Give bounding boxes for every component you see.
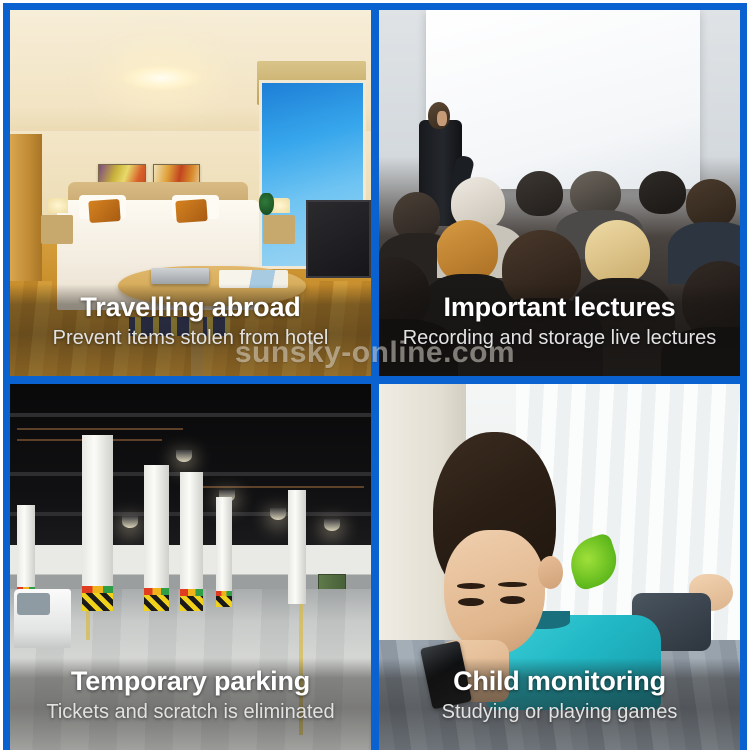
column-base-guard <box>216 596 232 607</box>
television <box>306 200 371 277</box>
product-usage-scenarios-collage: Travelling abroad Prevent items stolen f… <box>0 0 750 750</box>
laptop <box>151 268 209 284</box>
child-ear <box>538 556 563 589</box>
scenario-cell-important-lectures[interactable]: Important lectures Recording and storage… <box>379 10 740 376</box>
flower-vase <box>259 193 273 215</box>
hanging-light-icon <box>122 516 138 528</box>
ceiling-pipe <box>198 486 364 488</box>
audience-head <box>639 171 686 214</box>
van-window <box>17 593 49 615</box>
audience-head <box>502 230 581 308</box>
nightstand-left <box>41 215 73 244</box>
column-base-guard <box>180 596 203 611</box>
bedside-lamp-left <box>48 198 68 213</box>
presenter-face <box>437 111 446 126</box>
bed-cushion-left <box>89 199 121 223</box>
hanging-light-icon <box>176 450 192 462</box>
hotel-door <box>10 134 42 299</box>
garage-column <box>144 465 169 611</box>
column-hazard-stripe <box>144 588 169 595</box>
table-leg <box>191 299 204 376</box>
ceiling-pipe <box>17 428 183 430</box>
audience-group <box>379 171 740 376</box>
garage-column <box>288 490 306 603</box>
column-base-guard <box>144 595 169 611</box>
child-face <box>444 530 545 654</box>
floor-rug <box>129 317 230 335</box>
ceiling-beam <box>10 413 371 417</box>
audience-head <box>686 179 737 228</box>
nightstand-right <box>263 215 295 244</box>
audience-head <box>585 220 650 284</box>
ceiling-light-icon <box>122 65 201 91</box>
column-base-guard <box>82 593 113 611</box>
scenario-cell-temporary-parking[interactable]: Temporary parking Tickets and scratch is… <box>10 384 371 750</box>
child-eye <box>458 598 483 606</box>
bed-cushion-right <box>175 199 207 223</box>
scenario-cell-child-monitoring[interactable]: Child monitoring Studying or playing gam… <box>379 384 740 750</box>
column-hazard-stripe <box>82 586 113 593</box>
garage-column <box>180 472 203 611</box>
column-hazard-stripe <box>180 589 203 596</box>
audience-head <box>516 171 563 216</box>
audience-shoulders <box>480 298 603 376</box>
scenario-cell-travelling-abroad[interactable]: Travelling abroad Prevent items stolen f… <box>10 10 371 376</box>
scenario-grid: Travelling abroad Prevent items stolen f… <box>3 3 747 750</box>
floor-lane-line <box>299 596 303 735</box>
garage-column <box>216 497 232 607</box>
garage-column <box>82 435 113 611</box>
audience-head <box>437 220 498 281</box>
open-magazine <box>219 270 288 288</box>
